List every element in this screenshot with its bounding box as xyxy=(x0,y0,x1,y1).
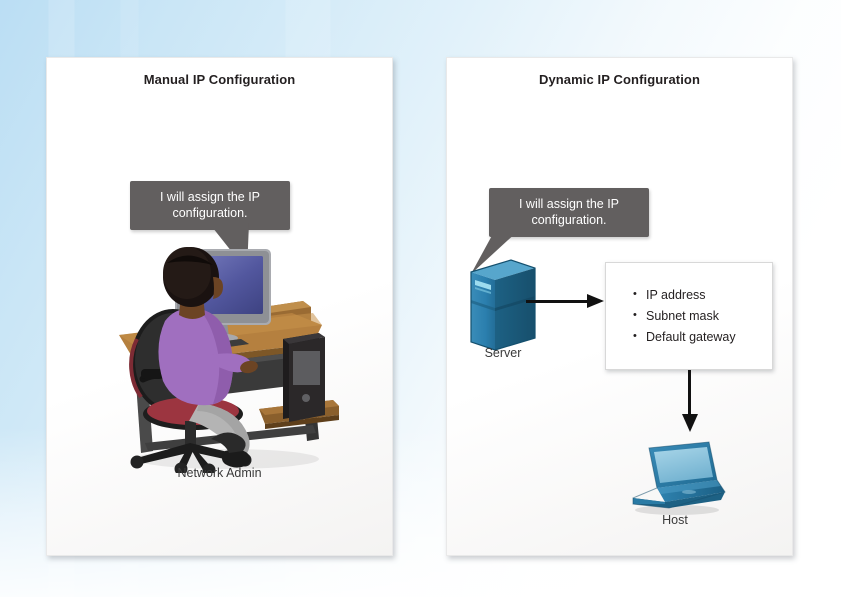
server-icon xyxy=(465,256,541,358)
device-label-server: Server xyxy=(457,346,549,360)
bubble-line-1: I will assign the IP xyxy=(501,196,637,212)
arrow-server-to-info xyxy=(526,300,588,303)
ip-parameters-list: IP address Subnet mask Default gateway xyxy=(632,285,772,348)
panel-manual-ip-configuration: Manual IP Configuration I will assign th… xyxy=(46,57,393,556)
arrow-info-to-host xyxy=(688,370,691,415)
bubble-line-1: I will assign the IP xyxy=(142,189,278,205)
panel-title-manual: Manual IP Configuration xyxy=(47,72,392,87)
bubble-line-2: configuration. xyxy=(142,205,278,221)
device-label-host: Host xyxy=(629,513,721,527)
host-laptop-icon xyxy=(623,438,727,520)
device-label-network-admin: Network Admin xyxy=(47,466,392,480)
panel-title-dynamic: Dynamic IP Configuration xyxy=(447,72,792,87)
bubble-line-2: configuration. xyxy=(501,212,637,228)
list-item: Default gateway xyxy=(646,327,772,348)
list-item: IP address xyxy=(646,285,772,306)
network-admin-illustration xyxy=(107,243,357,473)
list-item: Subnet mask xyxy=(646,306,772,327)
ip-parameters-box: IP address Subnet mask Default gateway xyxy=(605,262,773,370)
